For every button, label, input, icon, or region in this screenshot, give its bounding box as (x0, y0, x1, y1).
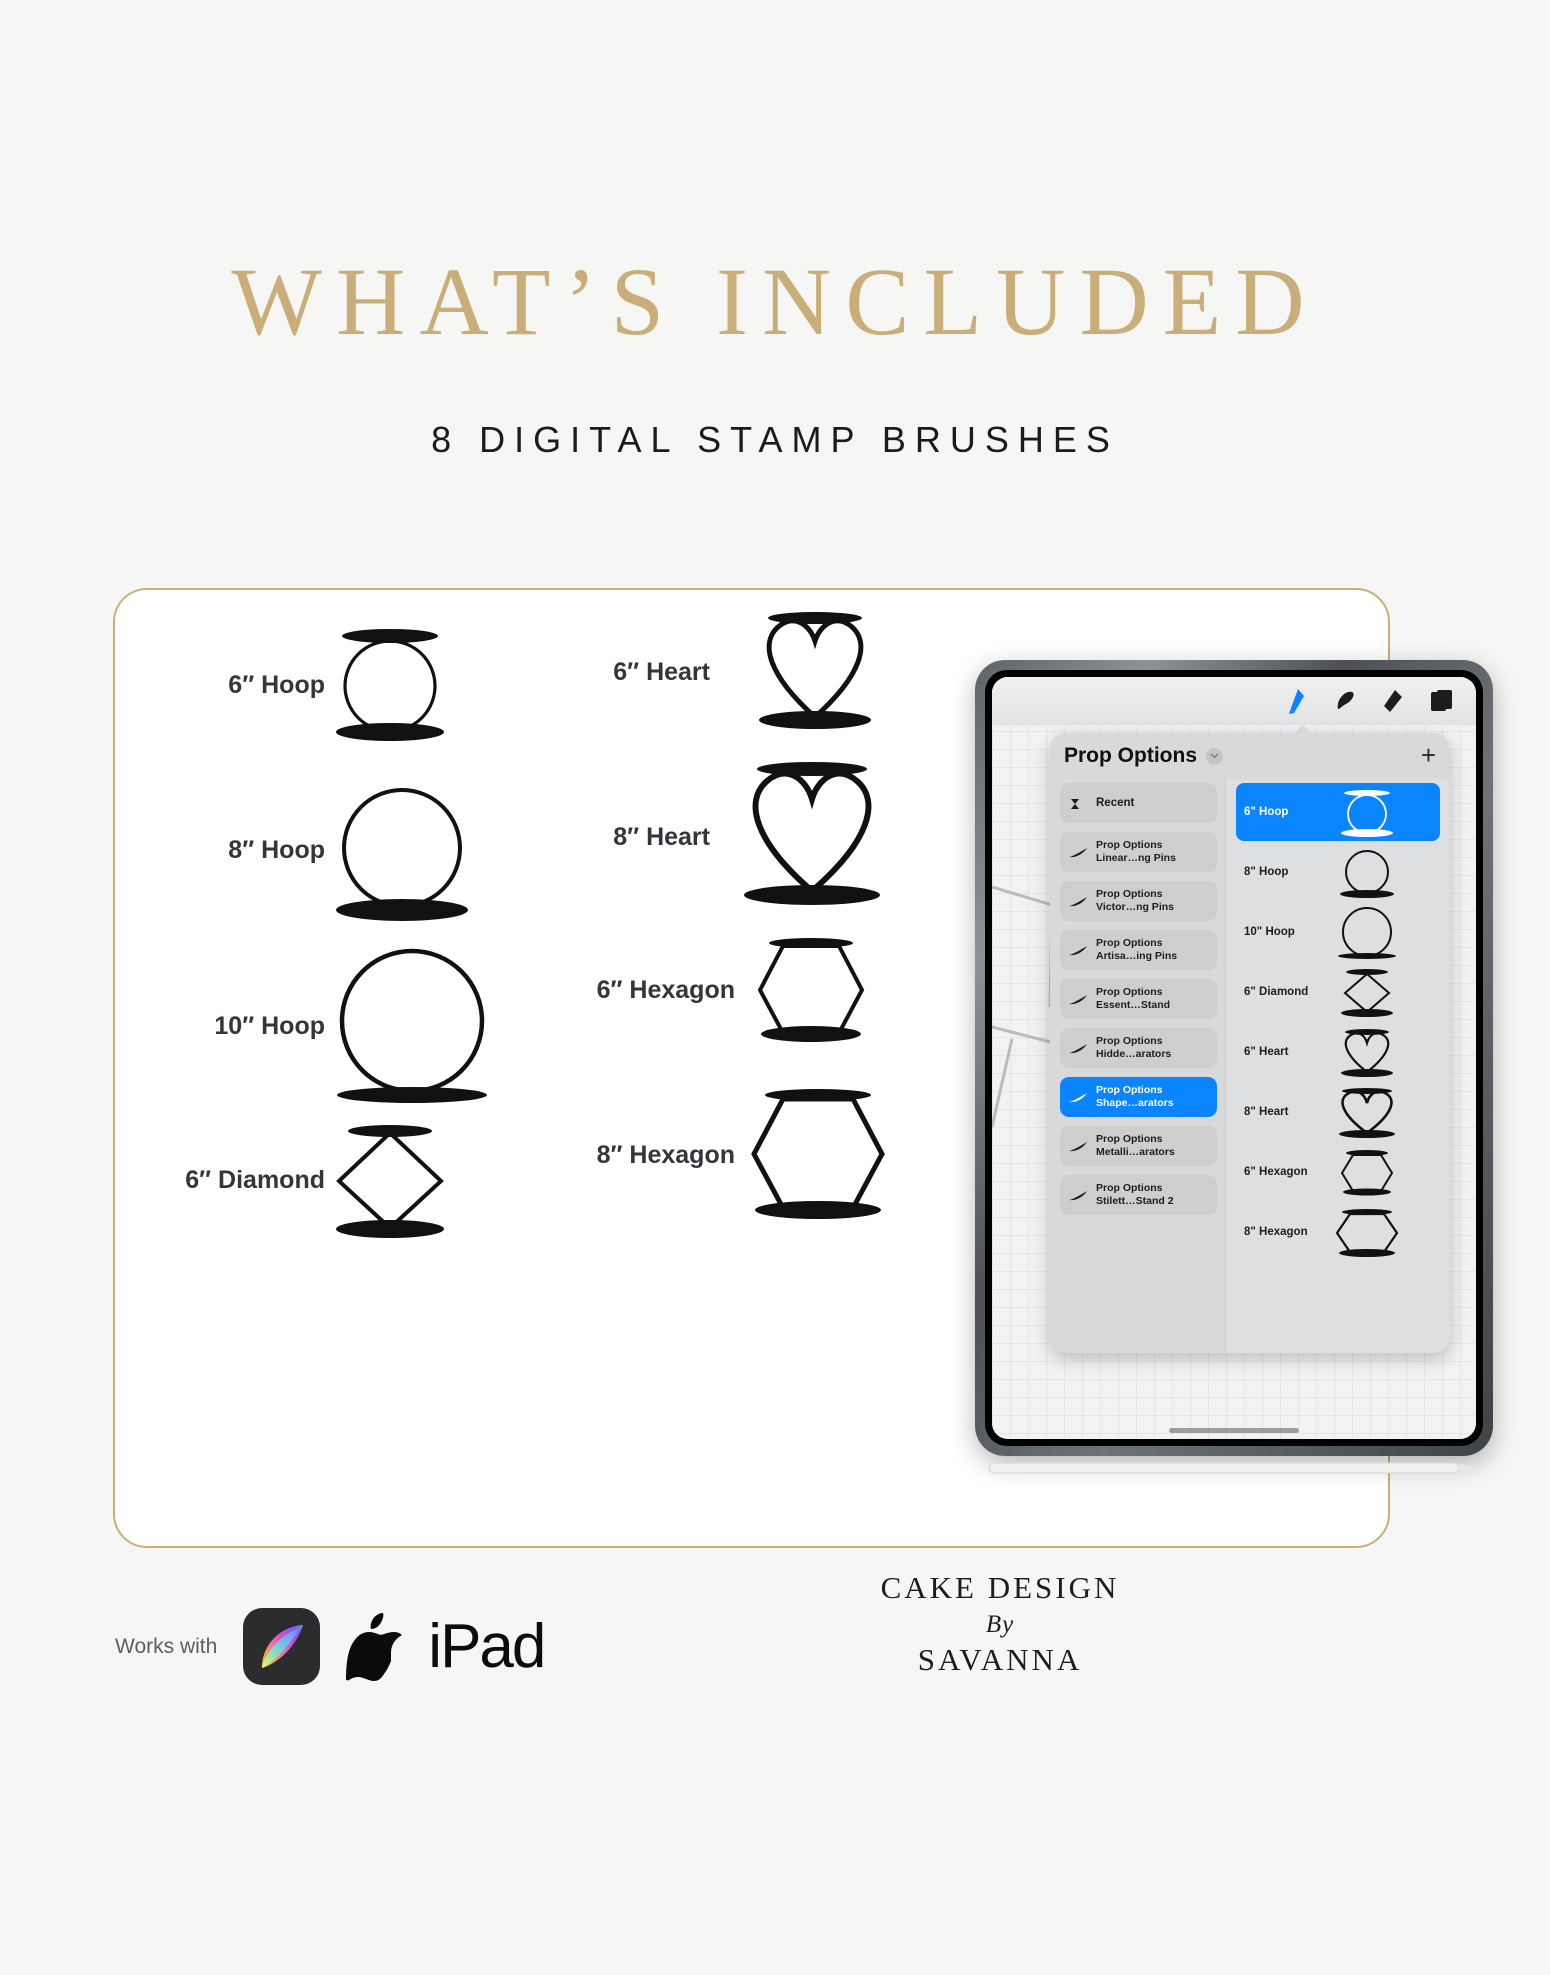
brush-set-item[interactable]: Prop OptionsVictor…ng Pins (1060, 881, 1217, 921)
poster-page: WHAT’S INCLUDED 8 DIGITAL STAMP BRUSHES … (0, 0, 1550, 1975)
brush-label: 8" Hexagon (1236, 1226, 1328, 1238)
showcase-label: 8″ Heart (550, 823, 710, 852)
showcase-item-8-hexagon: 8″ Hexagon (550, 1080, 970, 1230)
brush-preview-hexagon (1328, 1145, 1440, 1199)
brush-preview-hexagon (1328, 1205, 1440, 1259)
hourglass-icon (1068, 797, 1088, 809)
brush-set-label: Prop OptionsHidde…arators (1096, 1035, 1171, 1061)
brush-set-label: Prop OptionsMetalli…arators (1096, 1133, 1175, 1159)
brush-item-8-hexagon[interactable]: 8" Hexagon (1236, 1203, 1440, 1261)
home-indicator (1169, 1428, 1299, 1433)
brush-label: 8" Hoop (1236, 866, 1328, 878)
brush-preview-heart (1328, 1085, 1440, 1139)
showcase-label: 6″ Hexagon (550, 976, 735, 1005)
diamond-shape-art (325, 1115, 455, 1245)
brush-set-item-selected[interactable]: Prop OptionsShape…arators (1060, 1077, 1217, 1117)
popover-header: Prop Options + (1050, 733, 1450, 779)
brush-set-item[interactable]: Prop OptionsEssent…Stand (1060, 979, 1217, 1019)
showcase-label: 6″ Diamond (135, 1166, 325, 1195)
procreate-toolbar (992, 677, 1476, 725)
brush-set-label: Prop OptionsLinear…ng Pins (1096, 839, 1176, 865)
brush-library-popover: Prop Options + (1050, 733, 1450, 1353)
brush-label: 6" Heart (1236, 1046, 1328, 1058)
showcase-item-8-heart: 8″ Heart (550, 755, 970, 920)
brush-set-recent[interactable]: Recent (1060, 783, 1217, 823)
brand-signature: CAKE DESIGN By SAVANNA (820, 1570, 1180, 1678)
brush-set-item[interactable]: Prop OptionsArtisa…ing Pins (1060, 930, 1217, 970)
showcase-label: 6″ Heart (550, 658, 710, 687)
hexagon-shape-art (749, 930, 874, 1050)
hoop-shape-art (325, 935, 500, 1117)
brush-item-8-hoop[interactable]: 8" Hoop (1236, 843, 1440, 901)
add-brush-button[interactable]: + (1421, 745, 1436, 765)
smudge-tool-icon[interactable] (1332, 687, 1358, 715)
brush-item-6-hoop[interactable]: 6" Hoop (1236, 783, 1440, 841)
eraser-tool-icon[interactable] (1380, 687, 1406, 715)
brush-preview-hoop (1328, 785, 1440, 839)
brush-stroke-icon (1068, 1189, 1088, 1201)
procreate-app: Prop Options + (992, 677, 1476, 1439)
brush-label: 8" Heart (1236, 1106, 1328, 1118)
ipad-screen: Prop Options + (985, 670, 1483, 1446)
brand-line-2: By (820, 1611, 1180, 1639)
hoop-shape-art (325, 770, 480, 930)
showcase-item-6-hoop: 6″ Hoop (135, 620, 535, 750)
brush-set-label: Prop OptionsVictor…ng Pins (1096, 888, 1174, 914)
brush-label: 6" Hexagon (1236, 1166, 1328, 1178)
brush-label: 6" Hoop (1236, 806, 1328, 818)
brush-stroke-icon (1068, 895, 1088, 907)
brush-stroke-icon (1068, 1091, 1088, 1103)
works-with-label: Works with (115, 1635, 217, 1659)
brush-item-10-hoop[interactable]: 10" Hoop (1236, 903, 1440, 961)
brush-set-label: Prop OptionsStilett…Stand 2 (1096, 1182, 1174, 1208)
apple-logo-icon (346, 1613, 402, 1681)
showcase-label: 10″ Hoop (135, 1012, 325, 1041)
brush-preview-diamond (1328, 965, 1440, 1019)
brush-set-item[interactable]: Prop OptionsStilett…Stand 2 (1060, 1175, 1217, 1215)
brand-line-1: CAKE DESIGN (820, 1570, 1180, 1606)
layers-icon[interactable] (1428, 687, 1454, 715)
brand-line-3: SAVANNA (820, 1642, 1180, 1678)
brush-set-item[interactable]: Prop OptionsLinear…ng Pins (1060, 832, 1217, 872)
brush-item-8-heart[interactable]: 8" Heart (1236, 1083, 1440, 1141)
brush-preview-heart (1328, 1025, 1440, 1079)
showcase-label: 8″ Hexagon (550, 1141, 735, 1170)
brush-label: 6" Diamond (1236, 986, 1328, 998)
brush-stroke-icon (1068, 993, 1088, 1005)
brush-list[interactable]: 6" Hoop (1226, 779, 1450, 1353)
brush-preview-hoop (1328, 905, 1440, 959)
chevron-down-icon[interactable] (1206, 748, 1223, 765)
brush-set-label: Prop OptionsEssent…Stand (1096, 986, 1170, 1012)
brush-tool-icon[interactable] (1284, 687, 1310, 715)
heart-shape-art (748, 605, 883, 740)
showcase-item-6-diamond: 6″ Diamond (135, 1115, 535, 1245)
brush-set-item[interactable]: Prop OptionsMetalli…arators (1060, 1126, 1217, 1166)
popover-columns: Recent Prop OptionsLinear…ng Pins (1050, 779, 1450, 1353)
brush-stroke-icon (1068, 1042, 1088, 1054)
hoop-shape-art (325, 620, 455, 750)
page-title: WHAT’S INCLUDED (0, 246, 1550, 357)
ipad-wordmark: iPad (428, 1611, 544, 1682)
showcase-label: 6″ Hoop (135, 671, 325, 700)
brush-stroke-icon (1068, 846, 1088, 858)
heart-shape-art (730, 755, 895, 920)
brush-stroke-icon (1068, 1140, 1088, 1152)
brush-item-6-diamond[interactable]: 6" Diamond (1236, 963, 1440, 1021)
shape-grid: 6″ Hoop 8″ Hoop (115, 590, 1015, 1550)
brush-sets-list[interactable]: Recent Prop OptionsLinear…ng Pins (1050, 779, 1226, 1353)
brush-stroke-icon (1068, 944, 1088, 956)
brush-set-label: Recent (1096, 796, 1134, 810)
showcase-item-8-hoop: 8″ Hoop (135, 770, 535, 930)
showcase-item-6-heart: 6″ Heart (550, 605, 970, 740)
showcase-label: 8″ Hoop (135, 836, 325, 865)
hexagon-shape-art (741, 1080, 896, 1230)
brush-set-label: Prop OptionsShape…arators (1096, 1084, 1174, 1110)
brush-label: 10" Hoop (1236, 926, 1328, 938)
brush-item-6-heart[interactable]: 6" Heart (1236, 1023, 1440, 1081)
apple-pencil (983, 1460, 1483, 1476)
brush-preview-hoop (1328, 845, 1440, 899)
popover-title: Prop Options (1064, 744, 1197, 768)
works-with-row: Works with (115, 1608, 544, 1685)
showcase-item-6-hexagon: 6″ Hexagon (550, 930, 970, 1050)
brush-set-label: Prop OptionsArtisa…ing Pins (1096, 937, 1177, 963)
popover-arrow (1292, 725, 1314, 735)
ipad-mockup: Prop Options + (965, 660, 1505, 1470)
brush-item-6-hexagon[interactable]: 6" Hexagon (1236, 1143, 1440, 1201)
procreate-icon (243, 1608, 320, 1685)
ipad-body: Prop Options + (975, 660, 1493, 1456)
brush-set-item[interactable]: Prop OptionsHidde…arators (1060, 1028, 1217, 1068)
showcase-item-10-hoop: 10″ Hoop (135, 935, 535, 1117)
page-subtitle: 8 DIGITAL STAMP BRUSHES (0, 419, 1550, 461)
